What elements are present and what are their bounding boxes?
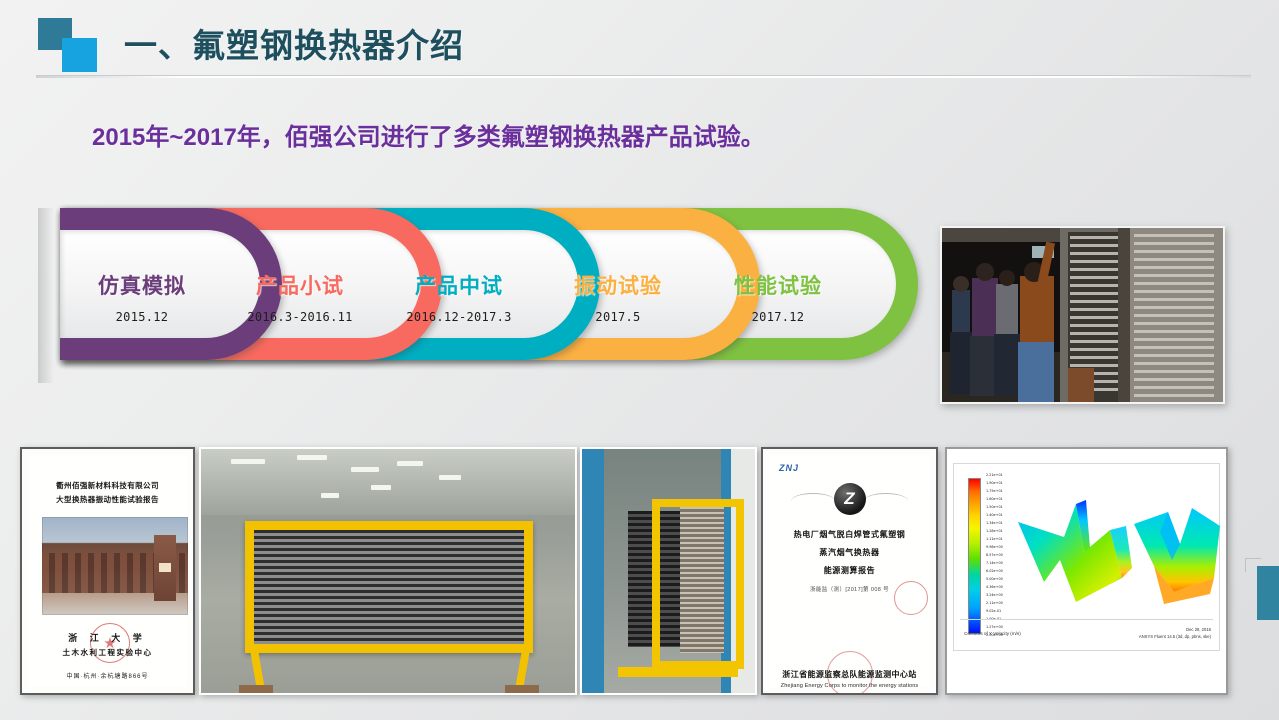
report-zju-org-main: 浙 江 大 学 [28, 631, 187, 644]
report-zju-line1: 衢州佰强新材料科技有限公司 [28, 479, 187, 493]
cfd-tick: 1.27e+00 [986, 626, 1012, 629]
page-title: 一、氟塑钢换热器介绍 [124, 19, 464, 67]
cfd-tick: 1.34e+01 [986, 522, 1012, 525]
report-znj-page: ZNJ Z 热电厂烟气脱白焊管式氟塑钢 蒸汽烟气换热器 能源测算报告 浙能监（测… [769, 455, 930, 687]
frame-leg-left [249, 647, 264, 687]
frame-foot-left [239, 685, 273, 693]
process-stage-2-label: 产品小试 [220, 270, 380, 300]
process-stage-4-date: 2017.5 [538, 310, 698, 324]
cfd-tick: 9.98e+00 [986, 546, 1012, 549]
inspection-photo [940, 226, 1225, 404]
process-stage-2: 产品小试 2016.3-2016.11 [220, 270, 380, 324]
report-znj-title-line1: 热电厂烟气脱白焊管式氟塑钢 [769, 529, 930, 540]
cfd-footer-meta: Dec 28, 2016 ANSYS Fluent 14.5 (3d, dp, … [1139, 627, 1211, 640]
report-cover-znj: ZNJ Z 热电厂烟气脱白焊管式氟塑钢 蒸汽烟气换热器 能源测算报告 浙能监（测… [761, 447, 938, 695]
report-cover-zju: 衢州佰强新材料科技有限公司 大型换热器振动性能试验报告 浙 江 大 学 土木水利… [20, 447, 195, 695]
slide-header: 一、氟塑钢换热器介绍 [0, 0, 1279, 92]
decor-square-bright [62, 38, 97, 72]
chamber-door-left [582, 449, 604, 693]
frame-leg-right [515, 647, 530, 687]
cfd-tick: 1.11e+01 [986, 538, 1012, 541]
process-stage-3: 产品中试 2016.12-2017.3 [379, 270, 539, 324]
heat-exchanger-side-photo [580, 447, 757, 695]
cfd-tick: 1.40e+01 [986, 514, 1012, 517]
cfd-tick: 2.21e+01 [986, 474, 1012, 477]
cfd-tick: 1.60e+01 [986, 498, 1012, 501]
cfd-tick: 8.57e+00 [986, 554, 1012, 557]
cfd-plot-canvas: 2.21e+01 1.90e+01 1.75e+01 1.60e+01 1.50… [953, 463, 1220, 651]
heat-exchanger-frame-photo [199, 447, 577, 695]
flourish-left-icon [791, 493, 835, 509]
process-stage-2-date: 2016.3-2016.11 [220, 310, 380, 324]
cfd-tick: 6.02e+00 [986, 570, 1012, 573]
process-stage-1-date: 2015.12 [62, 310, 222, 324]
brick-tower-graphic [154, 535, 176, 601]
process-stage-5: 性能试验 2017.12 [698, 270, 858, 324]
test-chamber-background [582, 449, 755, 693]
cfd-tick: 7.14e+00 [986, 562, 1012, 565]
header-divider [36, 75, 1251, 78]
process-stage-3-date: 2016.12-2017.3 [379, 310, 539, 324]
media-row: 衢州佰强新材料科技有限公司 大型换热器振动性能试验报告 浙 江 大 学 土木水利… [0, 447, 1279, 699]
cfd-tick: 1.75e+01 [986, 490, 1012, 493]
inspection-photo-graphic [942, 228, 1225, 404]
edge-accent-mark [1257, 566, 1279, 620]
process-stage-1-label: 仿真模拟 [62, 270, 222, 300]
report-zju-address: 中国·杭州·余杭塘路866号 [28, 671, 187, 680]
cfd-tick: 9.02e-01 [986, 610, 1012, 613]
process-stage-5-label: 性能试验 [698, 270, 858, 300]
ceiling-graphic [201, 449, 575, 515]
process-diagram: 仿真模拟 2015.12 产品小试 2016.3-2016.11 产品中试 20… [38, 208, 918, 383]
flourish-right-icon [864, 493, 908, 509]
cfd-velocity-surfaces [1014, 482, 1224, 632]
cfd-footer-label: Contours of Y Velocity (m/s) [964, 631, 1021, 636]
report-zju-cover-photo [42, 517, 188, 615]
report-znj-org-en: Zhejiang Energy Corps to monitor the ene… [769, 683, 930, 689]
report-znj-logo: ZNJ [779, 463, 799, 473]
cfd-tick: 4.36e+00 [986, 586, 1012, 589]
cfd-footer-divider [960, 619, 1213, 620]
process-stage-3-label: 产品中试 [379, 270, 539, 300]
report-zju-line2: 大型换热器振动性能试验报告 [28, 493, 187, 507]
cfd-tick: 1.28e+01 [986, 530, 1012, 533]
process-stage-4: 振动试验 2017.5 [538, 270, 698, 324]
report-znj-title-line3: 能源测算报告 [769, 565, 930, 576]
yellow-support-frame [652, 499, 744, 669]
frame-foot-right [505, 685, 539, 693]
process-left-shadow [38, 208, 54, 383]
cfd-tick: 1.90e+01 [986, 482, 1012, 485]
yellow-base-rail [618, 667, 738, 677]
yellow-test-frame [245, 521, 533, 653]
process-stage-4-label: 振动试验 [538, 270, 698, 300]
report-znj-seal-icon [894, 581, 928, 615]
cfd-footer-solver: ANSYS Fluent 14.5 (3d, dp, pbns, ske) [1139, 634, 1211, 640]
report-zju-org-sub: 土木水利工程实验中心 [28, 647, 187, 658]
report-znj-title-line2: 蒸汽烟气换热器 [769, 547, 930, 558]
process-stage-1: 仿真模拟 2015.12 [62, 270, 222, 324]
report-zju-page: 衢州佰强新材料科技有限公司 大型换热器振动性能试验报告 浙 江 大 学 土木水利… [28, 455, 187, 687]
cfd-tick: 5.00e+00 [986, 578, 1012, 581]
cfd-tick: 2.11e+00 [986, 602, 1012, 605]
cfd-colorbar [968, 478, 981, 634]
cfd-colorbar-labels: 2.21e+01 1.90e+01 1.75e+01 1.60e+01 1.50… [986, 474, 1012, 638]
report-znj-org-cn: 浙江省能源监察总队能源监测中心站 [769, 669, 930, 680]
slide-subtitle: 2015年~2017年，佰强公司进行了多类氟塑钢换热器产品试验。 [92, 117, 765, 152]
cfd-tick: 3.24e+00 [986, 594, 1012, 597]
znj-emblem-icon: Z [834, 483, 866, 515]
test-room-background [201, 449, 575, 693]
cfd-tick: 1.50e+01 [986, 506, 1012, 509]
process-stage-5-date: 2017.12 [698, 310, 858, 324]
cfd-contour-plot: 2.21e+01 1.90e+01 1.75e+01 1.60e+01 1.50… [945, 447, 1228, 695]
